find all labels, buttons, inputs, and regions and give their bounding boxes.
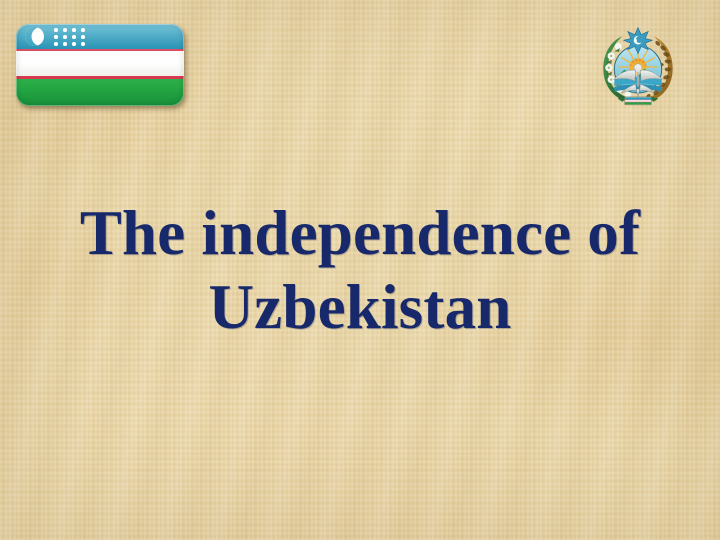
slide-canvas: The independence of Uzbekistan: [0, 0, 720, 540]
star-icon: [72, 35, 76, 39]
coat-of-arms-of-uzbekistan: [598, 26, 678, 108]
star-icon: [63, 28, 67, 32]
star-icon: [81, 42, 85, 46]
page-title: The independence of Uzbekistan: [0, 196, 720, 344]
star-icon: [72, 28, 76, 32]
flag-body: [16, 24, 184, 106]
national-flag-ribbon: [625, 97, 652, 105]
title-line-1: The independence of: [0, 196, 720, 270]
flag-band-green: [16, 79, 184, 106]
flag-stars-group: [54, 27, 110, 47]
flag-of-uzbekistan: [16, 24, 184, 106]
star-icon: [63, 35, 67, 39]
crescent-moon-icon: [25, 27, 44, 46]
star-icon: [81, 35, 85, 39]
emblem-svg: [598, 26, 678, 108]
star-icon: [81, 28, 85, 32]
star-icon: [63, 42, 67, 46]
star-icon: [54, 35, 58, 39]
star-icon: [54, 42, 58, 46]
flag-band-white: [16, 51, 184, 76]
star-icon: [54, 28, 58, 32]
eight-pointed-star-icon: [624, 28, 652, 54]
star-icon: [72, 42, 76, 46]
title-line-2: Uzbekistan: [0, 270, 720, 344]
